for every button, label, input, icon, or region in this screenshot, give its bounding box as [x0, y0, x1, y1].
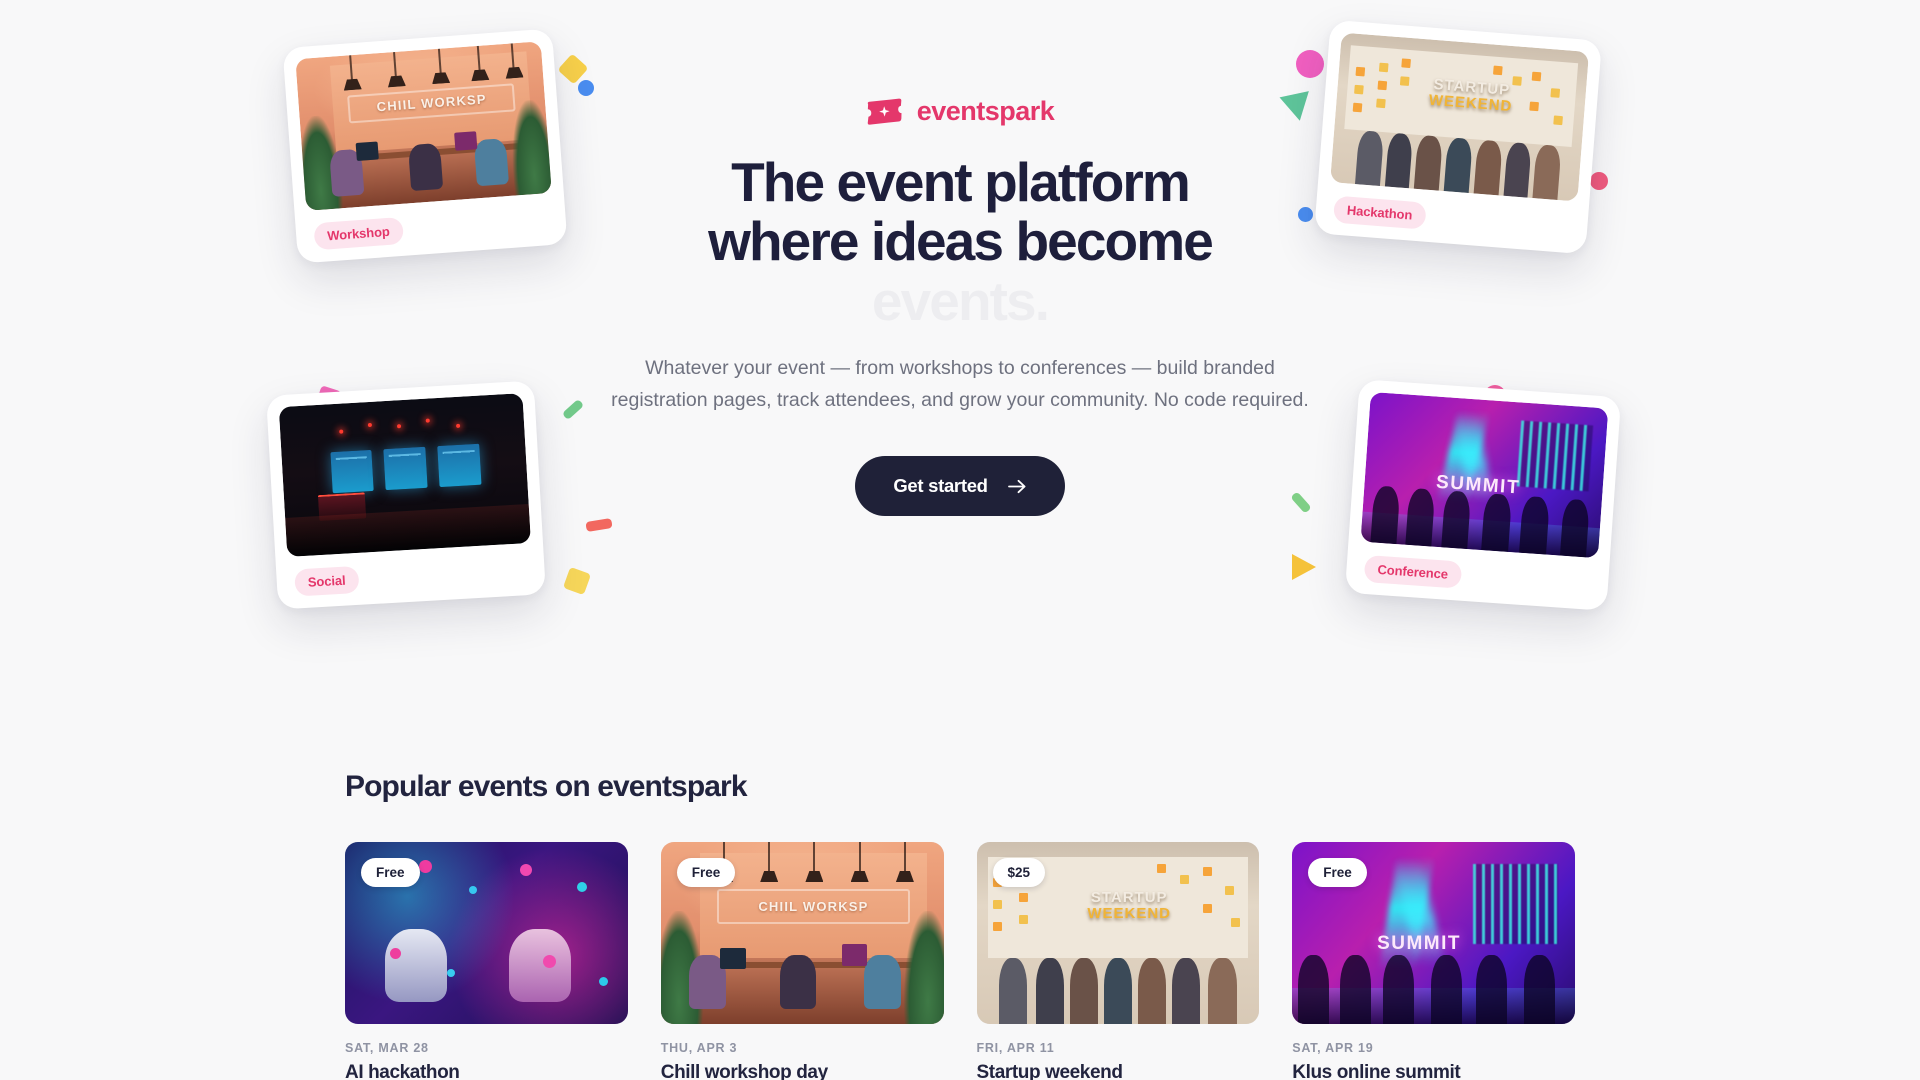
get-started-label: Get started [893, 475, 987, 497]
brand-logo[interactable]: eventspark [580, 96, 1340, 127]
brand-name: eventspark [917, 96, 1055, 127]
confetti-circle-pink-right-edge [1590, 172, 1608, 190]
hero-section: CHIIL WORKSP Workshop [0, 0, 1920, 740]
event-title: Klus online summit [1292, 1062, 1575, 1080]
price-badge: Free [677, 858, 736, 887]
floating-card-photo-social [279, 393, 531, 557]
hero-headline: The event platform where ideas become ev… [580, 153, 1340, 331]
floating-card-tag-social: Social [294, 565, 359, 596]
popular-events-section: Popular events on eventspark Free [0, 770, 1920, 1080]
floating-card-tag-conference: Conference [1364, 554, 1462, 588]
confetti-circle-blue [578, 80, 594, 96]
event-card[interactable]: Free [345, 842, 628, 1080]
event-date: THU, APR 3 [661, 1041, 944, 1055]
floating-card-hackathon[interactable]: STARTUP WEEKEND Hackathon [1314, 20, 1602, 255]
landing-page: CHIIL WORKSP Workshop [0, 0, 1920, 1080]
floating-card-tag-hackathon: Hackathon [1333, 195, 1426, 229]
hero-subheadline: Whatever your event — from workshops to … [580, 353, 1340, 416]
floating-card-workshop[interactable]: CHIIL WORKSP Workshop [282, 28, 567, 263]
floating-card-social[interactable]: Social [266, 380, 546, 609]
ticket-sparkle-icon [866, 98, 904, 125]
floating-card-photo-conference: SUMMIT [1360, 392, 1608, 558]
event-title: Chill workshop day [661, 1062, 944, 1080]
floating-card-photo-hackathon: STARTUP WEEKEND [1330, 33, 1589, 202]
confetti-bar-red [585, 518, 612, 532]
event-card-image: $25 [977, 842, 1260, 1024]
floating-card-conference[interactable]: SUMMIT Conference [1345, 379, 1621, 611]
headline-line-2: where ideas become [580, 212, 1340, 271]
event-card[interactable]: Free CHIIL WORKSP [661, 842, 944, 1080]
price-badge: Free [361, 858, 420, 887]
event-card-image: Free [345, 842, 628, 1024]
floating-card-tag-workshop: Workshop [313, 216, 403, 249]
event-card[interactable]: $25 [977, 842, 1260, 1080]
event-date: SAT, APR 19 [1292, 1041, 1575, 1055]
hero-content: eventspark The event platform where idea… [580, 96, 1340, 516]
headline-line-3-ghost: events. [580, 272, 1340, 331]
confetti-triangle-yellow [1292, 554, 1316, 580]
event-card-image: Free SUMMIT [1292, 842, 1575, 1024]
event-date: FRI, APR 11 [977, 1041, 1260, 1055]
price-badge: Free [1308, 858, 1367, 887]
get-started-button[interactable]: Get started [855, 456, 1064, 516]
floating-card-photo-workshop: CHIIL WORKSP [295, 41, 551, 211]
event-card[interactable]: Free SUMMIT [1292, 842, 1575, 1080]
headline-line-1: The event platform [580, 153, 1340, 212]
arrow-right-icon [1008, 479, 1027, 494]
event-card-image: Free CHIIL WORKSP [661, 842, 944, 1024]
price-badge: $25 [993, 858, 1046, 887]
event-title: AI hackathon [345, 1062, 628, 1080]
section-title: Popular events on eventspark [345, 770, 1575, 804]
event-date: SAT, MAR 28 [345, 1041, 628, 1055]
event-title: Startup weekend [977, 1062, 1260, 1080]
event-grid: Free [345, 842, 1575, 1080]
confetti-square-yellow [563, 567, 591, 595]
confetti-circle-pink [1296, 50, 1324, 78]
